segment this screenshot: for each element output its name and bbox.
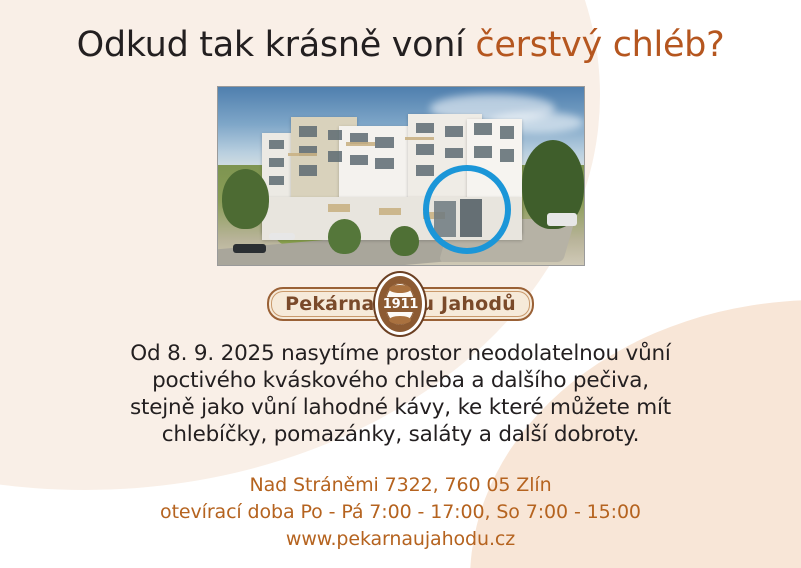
body-line: chlebíčky, pomazánky, saláty a další dob… <box>0 421 801 448</box>
balcony <box>346 142 375 146</box>
tree <box>222 169 270 230</box>
window <box>375 158 393 169</box>
headline-lead: Odkud tak krásně voní <box>77 25 476 65</box>
bakery-location-highlight <box>423 165 511 254</box>
body-copy: Od 8. 9. 2025 nasytíme prostor neodolate… <box>0 340 801 448</box>
window <box>375 137 393 148</box>
window <box>416 165 434 176</box>
building-photo <box>217 86 585 266</box>
window <box>299 126 317 137</box>
window <box>500 126 515 138</box>
balcony <box>405 137 434 141</box>
headline-accent: čerstvý chléb? <box>475 25 724 65</box>
contact-hours: otevírací doba Po - Pá 7:00 - 17:00, So … <box>0 499 801 526</box>
balcony <box>379 208 401 215</box>
balcony <box>288 153 317 157</box>
window <box>445 148 463 159</box>
car <box>233 244 266 253</box>
window <box>350 155 368 166</box>
car <box>269 233 295 240</box>
tree <box>328 219 361 255</box>
window <box>269 140 284 149</box>
window <box>269 158 284 167</box>
window <box>416 144 434 155</box>
wheat-icon <box>389 285 411 293</box>
car <box>547 213 576 225</box>
logo-pill: Pekárna u Jahodů 1911 <box>267 287 534 321</box>
wheat-icon <box>389 316 411 324</box>
body-line: Od 8. 9. 2025 nasytíme prostor neodolate… <box>0 340 801 367</box>
window <box>328 130 343 141</box>
seal-year-label: 1911 <box>380 297 421 312</box>
window <box>269 176 284 185</box>
window <box>328 151 343 162</box>
body-line: stejně jako vůní lahodné kávy, ke které … <box>0 394 801 421</box>
contact-website[interactable]: www.pekarnaujahodu.cz <box>0 526 801 553</box>
window <box>299 165 317 176</box>
bakery-logo: Pekárna u Jahodů 1911 <box>0 287 801 321</box>
window <box>416 123 434 134</box>
balcony <box>328 204 350 211</box>
window <box>474 123 492 135</box>
window <box>500 149 515 161</box>
headline: Odkud tak krásně voní čerstvý chléb? <box>0 25 801 65</box>
contact-address: Nad Stráněmi 7322, 760 05 Zlín <box>0 472 801 499</box>
founding-year-seal: 1911 <box>373 271 427 337</box>
logo-word-right: u Jahodů <box>421 295 516 314</box>
logo-word-left: Pekárna <box>285 295 374 314</box>
body-line: poctivého kváskového chleba a dalšího pe… <box>0 367 801 394</box>
poster-canvas: Odkud tak krásně voní čerstvý chléb? <box>0 0 801 568</box>
window <box>474 146 492 158</box>
window <box>445 126 463 137</box>
contact-block: Nad Stráněmi 7322, 760 05 Zlín otevírací… <box>0 472 801 553</box>
tree <box>390 226 419 256</box>
